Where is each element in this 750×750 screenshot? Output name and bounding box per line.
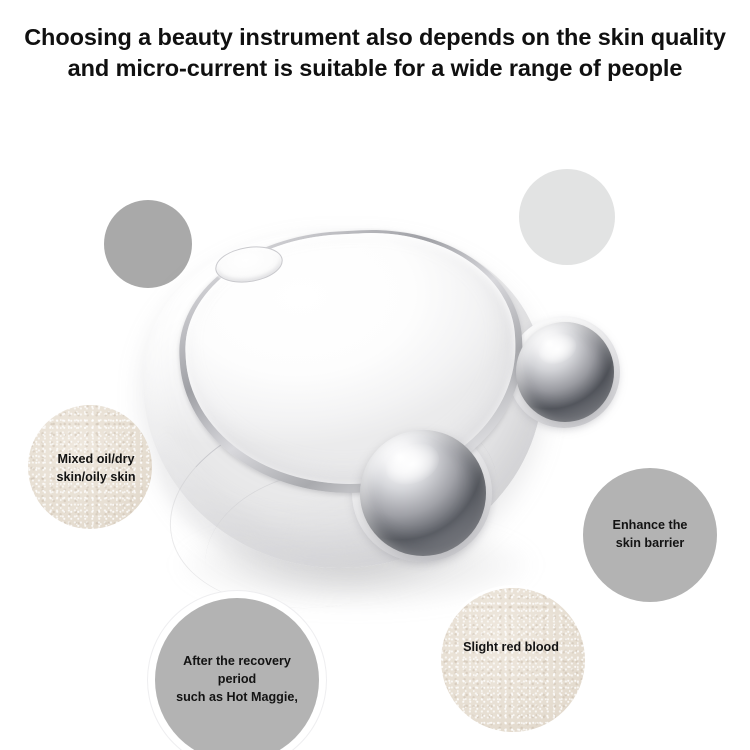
callout-enhance-skin-barrier: Enhance the skin barrier [583, 468, 717, 602]
callout-mixed-oil-dry-oily-skin: Mixed oil/dry skin/oily skin [28, 405, 152, 529]
callout-text: After the recovery period such as Hot Ma… [155, 653, 319, 707]
callout-text: Enhance the skin barrier [605, 517, 696, 553]
product-infographic-page: Choosing a beauty instrument also depend… [0, 0, 750, 750]
callout-text-line-2: such as Hot Maggie, [176, 690, 298, 704]
callout-text-line-1: After the recovery period [183, 654, 291, 686]
callout-slight-red-blood: Slight red blood [441, 588, 585, 732]
massage-ball-left [360, 430, 486, 556]
callout-text-line-2: skin barrier [616, 536, 685, 550]
callout-text-line-2: skin/oily skin [56, 470, 135, 484]
callout-text-line-1: Enhance the [613, 518, 688, 532]
massage-ball-right [516, 322, 614, 422]
callout-text: Mixed oil/dry skin/oily skin [48, 451, 143, 487]
callout-after-recovery-period: After the recovery period such as Hot Ma… [155, 598, 319, 750]
callout-text: Slight red blood [455, 639, 567, 657]
callout-text-line-1: Slight red blood [463, 640, 559, 654]
product-image [0, 0, 750, 750]
callout-text-line-1: Mixed oil/dry [58, 452, 135, 466]
